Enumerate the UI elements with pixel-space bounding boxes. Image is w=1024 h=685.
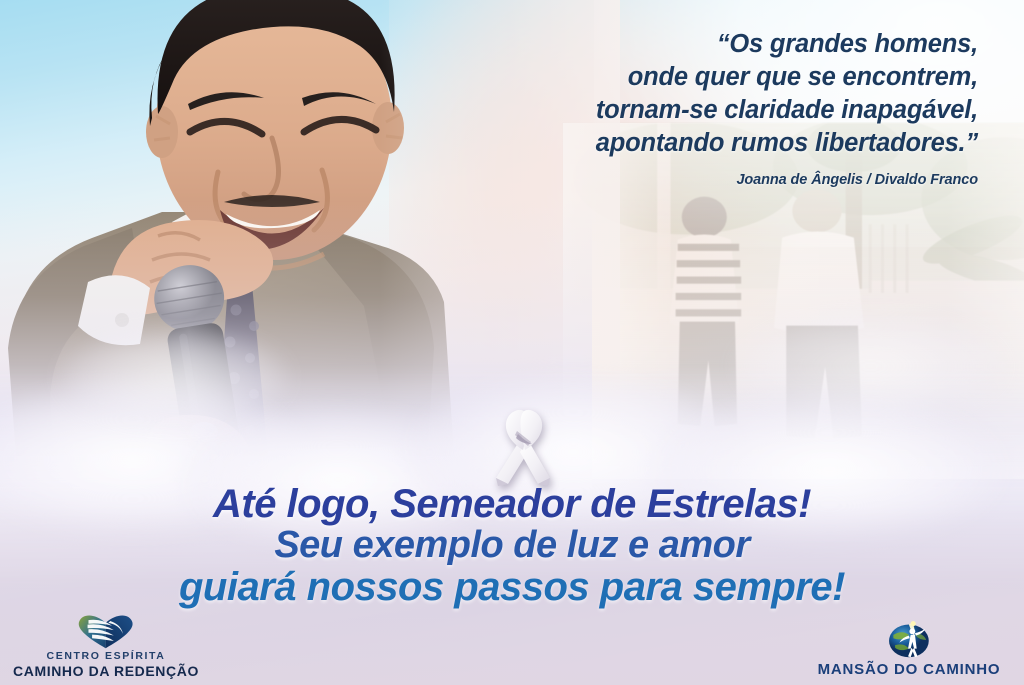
quote-text: “Os grandes homens, onde quer que se enc… [418,28,978,160]
quote-line-3: tornam-se claridade inapagável, [418,94,978,127]
memorial-poster: “Os grandes homens, onde quer que se enc… [0,0,1024,685]
globe-figure-icon [804,621,1014,659]
quote-line-4: apontando rumos libertadores.” [418,127,978,160]
logo-left-line-2: CAMINHO DA REDENÇÃO [6,663,206,679]
logo-mansao-do-caminho: MANSÃO DO CAMINHO [804,621,1014,679]
headline-line-2: Seu exemplo de luz e amor [0,525,1024,566]
logo-right-line-1: MANSÃO DO CAMINHO [804,661,1014,679]
headline-line-1: Até logo, Semeador de Estrelas! [0,483,1024,525]
quote-attribution: Joanna de Ângelis / Divaldo Franco [418,172,978,188]
headline-block: Até logo, Semeador de Estrelas! Seu exem… [0,483,1024,609]
logo-centro-espirita: CENTRO ESPÍRITA CAMINHO DA REDENÇÃO [6,612,206,679]
quote-line-1: “Os grandes homens, [418,28,978,61]
white-mourning-ribbon-icon [484,406,562,488]
logo-left-line-1: CENTRO ESPÍRITA [6,650,206,663]
heart-hands-icon [6,612,206,650]
quote-line-2: onde quer que se encontrem, [418,61,978,94]
headline-line-3: guiará nossos passos para sempre! [0,566,1024,609]
